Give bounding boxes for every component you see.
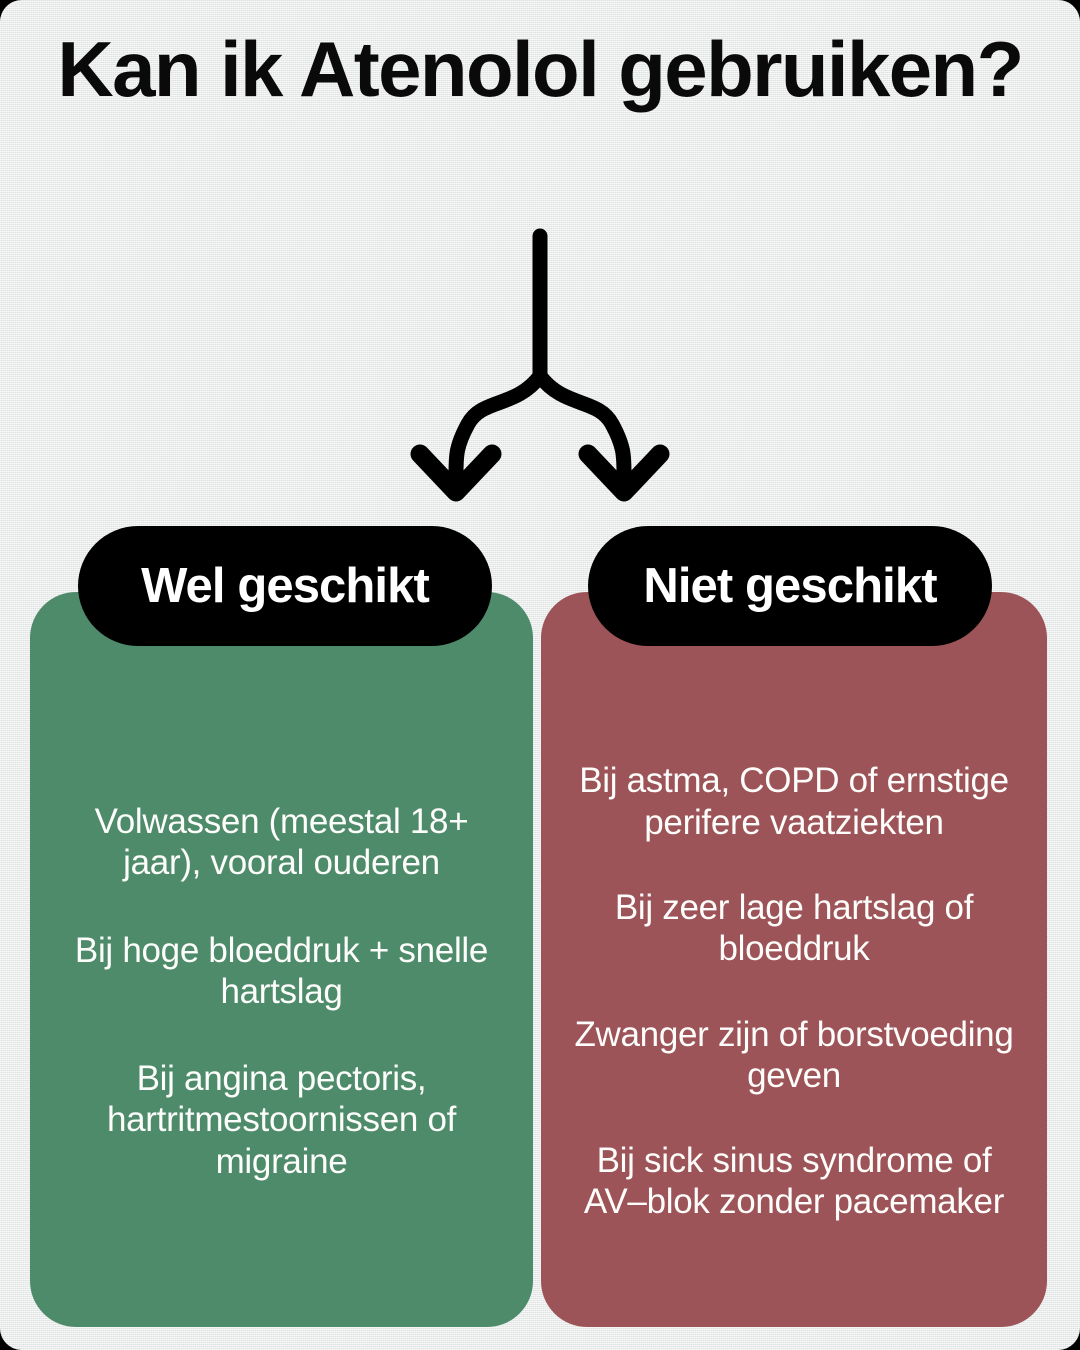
badge-suitable: Wel geschikt xyxy=(78,526,492,646)
list-item: Volwassen (meestal 18+ jaar), vooral oud… xyxy=(56,801,507,884)
list-item: Zwanger zijn of borstvoeding geven xyxy=(567,1014,1021,1097)
list-item: Bij hoge bloeddruk + snelle hartslag xyxy=(56,930,507,1013)
badge-not-suitable: Niet geschikt xyxy=(588,526,992,646)
list-item: Bij sick sinus syndrome of AV–blok zonde… xyxy=(567,1140,1021,1223)
suitable-item-list: Volwassen (meestal 18+ jaar), vooral oud… xyxy=(56,801,507,1182)
page-title: Kan ik Atenolol gebruiken? xyxy=(0,28,1080,111)
column-card-not-suitable: Bij astma, COPD of ernstige perifere vaa… xyxy=(541,592,1047,1327)
infographic-canvas: Kan ik Atenolol gebruiken? Volwassen (me… xyxy=(0,0,1080,1350)
fork-arrow-down-icon xyxy=(390,228,690,508)
not-suitable-item-list: Bij astma, COPD of ernstige perifere vaa… xyxy=(567,760,1021,1222)
list-item: Bij zeer lage hartslag of bloeddruk xyxy=(567,887,1021,970)
list-item: Bij astma, COPD of ernstige perifere vaa… xyxy=(567,760,1021,843)
column-card-suitable: Volwassen (meestal 18+ jaar), vooral oud… xyxy=(30,592,533,1327)
list-item: Bij angina pectoris, hartritmestoornisse… xyxy=(56,1058,507,1182)
